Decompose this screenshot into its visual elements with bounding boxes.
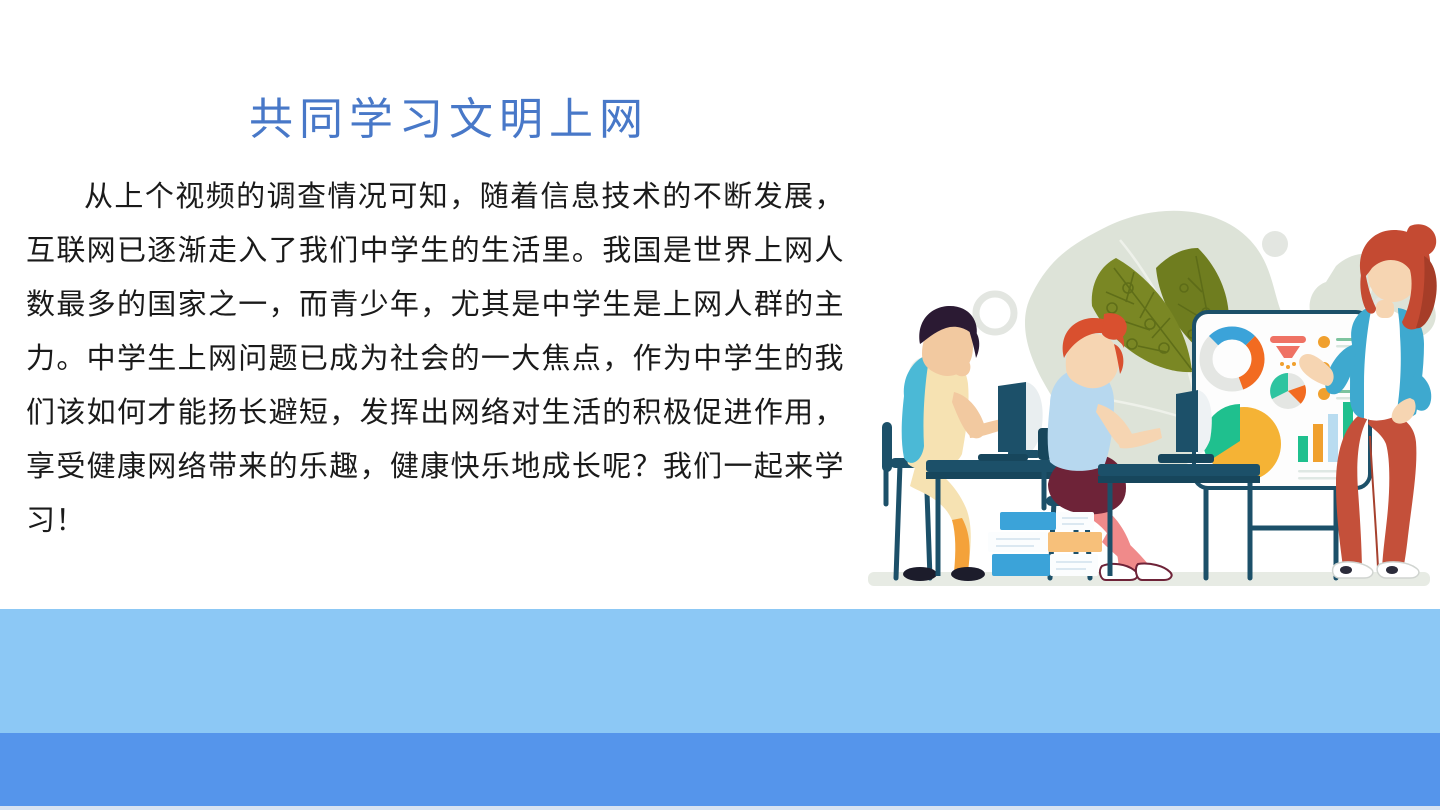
book-stack [988,512,1102,576]
text-column: 共同学习文明上网 从上个视频的调查情况可知，随着信息技术的不断发展，互联网已逐渐… [0,96,880,596]
slide-canvas: 共同学习文明上网 从上个视频的调查情况可知，随着信息技术的不断发展，互联网已逐渐… [0,0,1440,810]
board-small-pie-chart [1270,373,1306,409]
body-paragraph: 从上个视频的调查情况可知，随着信息技术的不断发展，互联网已逐渐走入了我们中学生的… [0,170,880,548]
bottom-band-light-blue [0,609,1440,733]
bottom-band-edge [0,806,1440,810]
bottom-band-dark-blue [0,733,1440,808]
page-title: 共同学习文明上网 [0,96,880,144]
illustration-students-at-computers [858,196,1440,596]
